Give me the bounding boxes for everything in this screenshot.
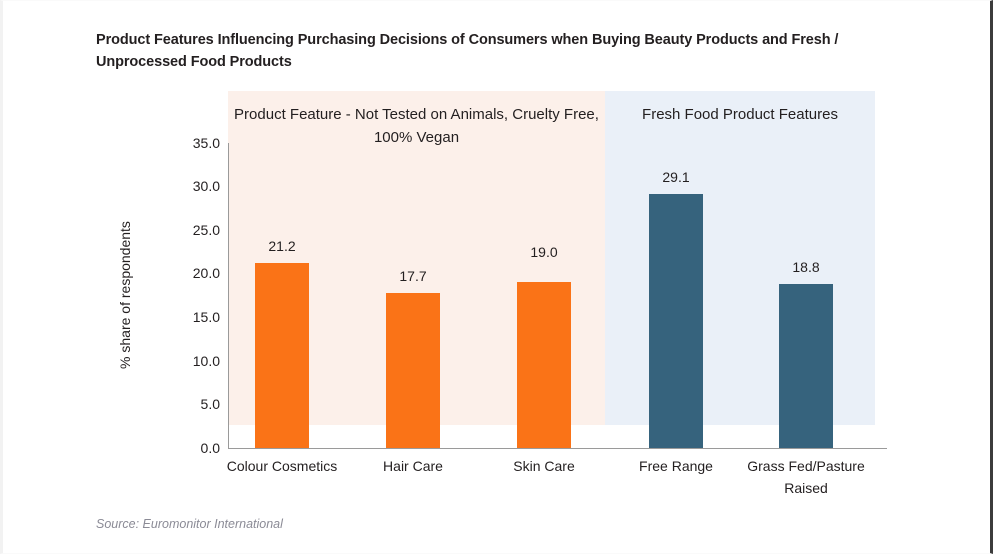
y-tick-20: 20.0 [162,265,220,281]
y-tick-15: 15.0 [162,309,220,325]
bar-value-hair-care: 17.7 [368,268,458,284]
x-label-grass-fed-pasture-raised: Grass Fed/Pasture Raised [731,456,881,499]
bar-value-free-range: 29.1 [631,169,721,185]
bar-skin-care[interactable] [517,282,571,448]
x-label-skin-care: Skin Care [469,456,619,478]
bar-chart: Product Feature - Not Tested on Animals,… [3,1,993,555]
band-fresh-food: Fresh Food Product Features [605,91,875,425]
y-tick-25: 25.0 [162,222,220,238]
y-tick-0: 0.0 [162,440,220,456]
y-tick-35: 35.0 [162,135,220,151]
bar-colour-cosmetics[interactable] [255,263,309,448]
bar-free-range[interactable] [649,194,703,448]
band-label-beauty: Product Feature - Not Tested on Animals,… [228,104,605,149]
x-label-colour-cosmetics: Colour Cosmetics [207,456,357,478]
y-axis-line [228,143,229,449]
y-axis-title: % share of respondents [117,221,133,369]
y-tick-10: 10.0 [162,353,220,369]
y-tick-5: 5.0 [162,396,220,412]
bar-value-grass-fed-pasture-raised: 18.8 [761,259,851,275]
bar-grass-fed-pasture-raised[interactable] [779,284,833,448]
source-note: Source: Euromonitor International [96,517,283,531]
x-label-hair-care: Hair Care [338,456,488,478]
x-axis-line [228,448,887,449]
bar-hair-care[interactable] [386,293,440,448]
bar-value-skin-care: 19.0 [499,244,589,260]
chart-page: Product Features Influencing Purchasing … [0,0,993,554]
y-tick-30: 30.0 [162,178,220,194]
bar-value-colour-cosmetics: 21.2 [237,238,327,254]
x-label-free-range: Free Range [601,456,751,478]
band-label-food: Fresh Food Product Features [605,104,875,127]
